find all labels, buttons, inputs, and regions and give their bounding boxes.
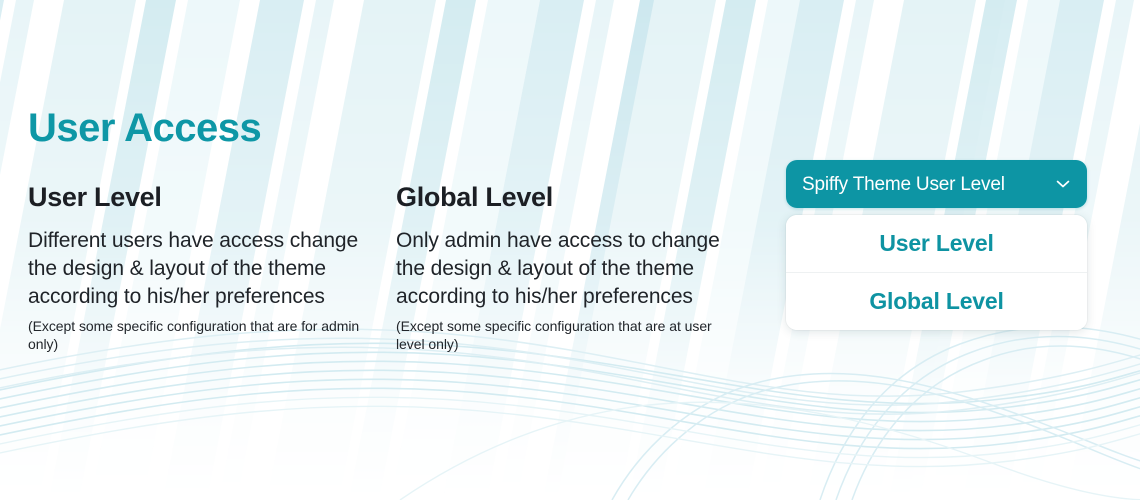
column-body-text: Different users have access change the d…	[28, 227, 368, 311]
column-note-text: (Except some specific configuration that…	[396, 317, 736, 354]
slide-canvas: User Access User Level Different users h…	[0, 0, 1140, 500]
page-title: User Access	[28, 106, 261, 150]
column-note-text: (Except some specific configuration that…	[28, 317, 368, 354]
dropdown-option-global-level[interactable]: Global Level	[786, 272, 1087, 330]
column-heading: User Level	[28, 182, 368, 213]
dropdown-toggle-button[interactable]: Spiffy Theme User Level	[786, 160, 1087, 208]
dropdown-options-menu: User Level Global Level	[786, 215, 1087, 330]
chevron-down-icon	[1053, 174, 1073, 194]
theme-user-level-dropdown: Spiffy Theme User Level User Level Globa…	[786, 160, 1087, 330]
dropdown-option-user-level[interactable]: User Level	[786, 215, 1087, 272]
dropdown-selected-label: Spiffy Theme User Level	[802, 175, 1045, 194]
column-user-level: User Level Different users have access c…	[28, 182, 368, 354]
column-global-level: Global Level Only admin have access to c…	[396, 182, 736, 354]
column-body-text: Only admin have access to change the des…	[396, 227, 736, 311]
column-heading: Global Level	[396, 182, 736, 213]
